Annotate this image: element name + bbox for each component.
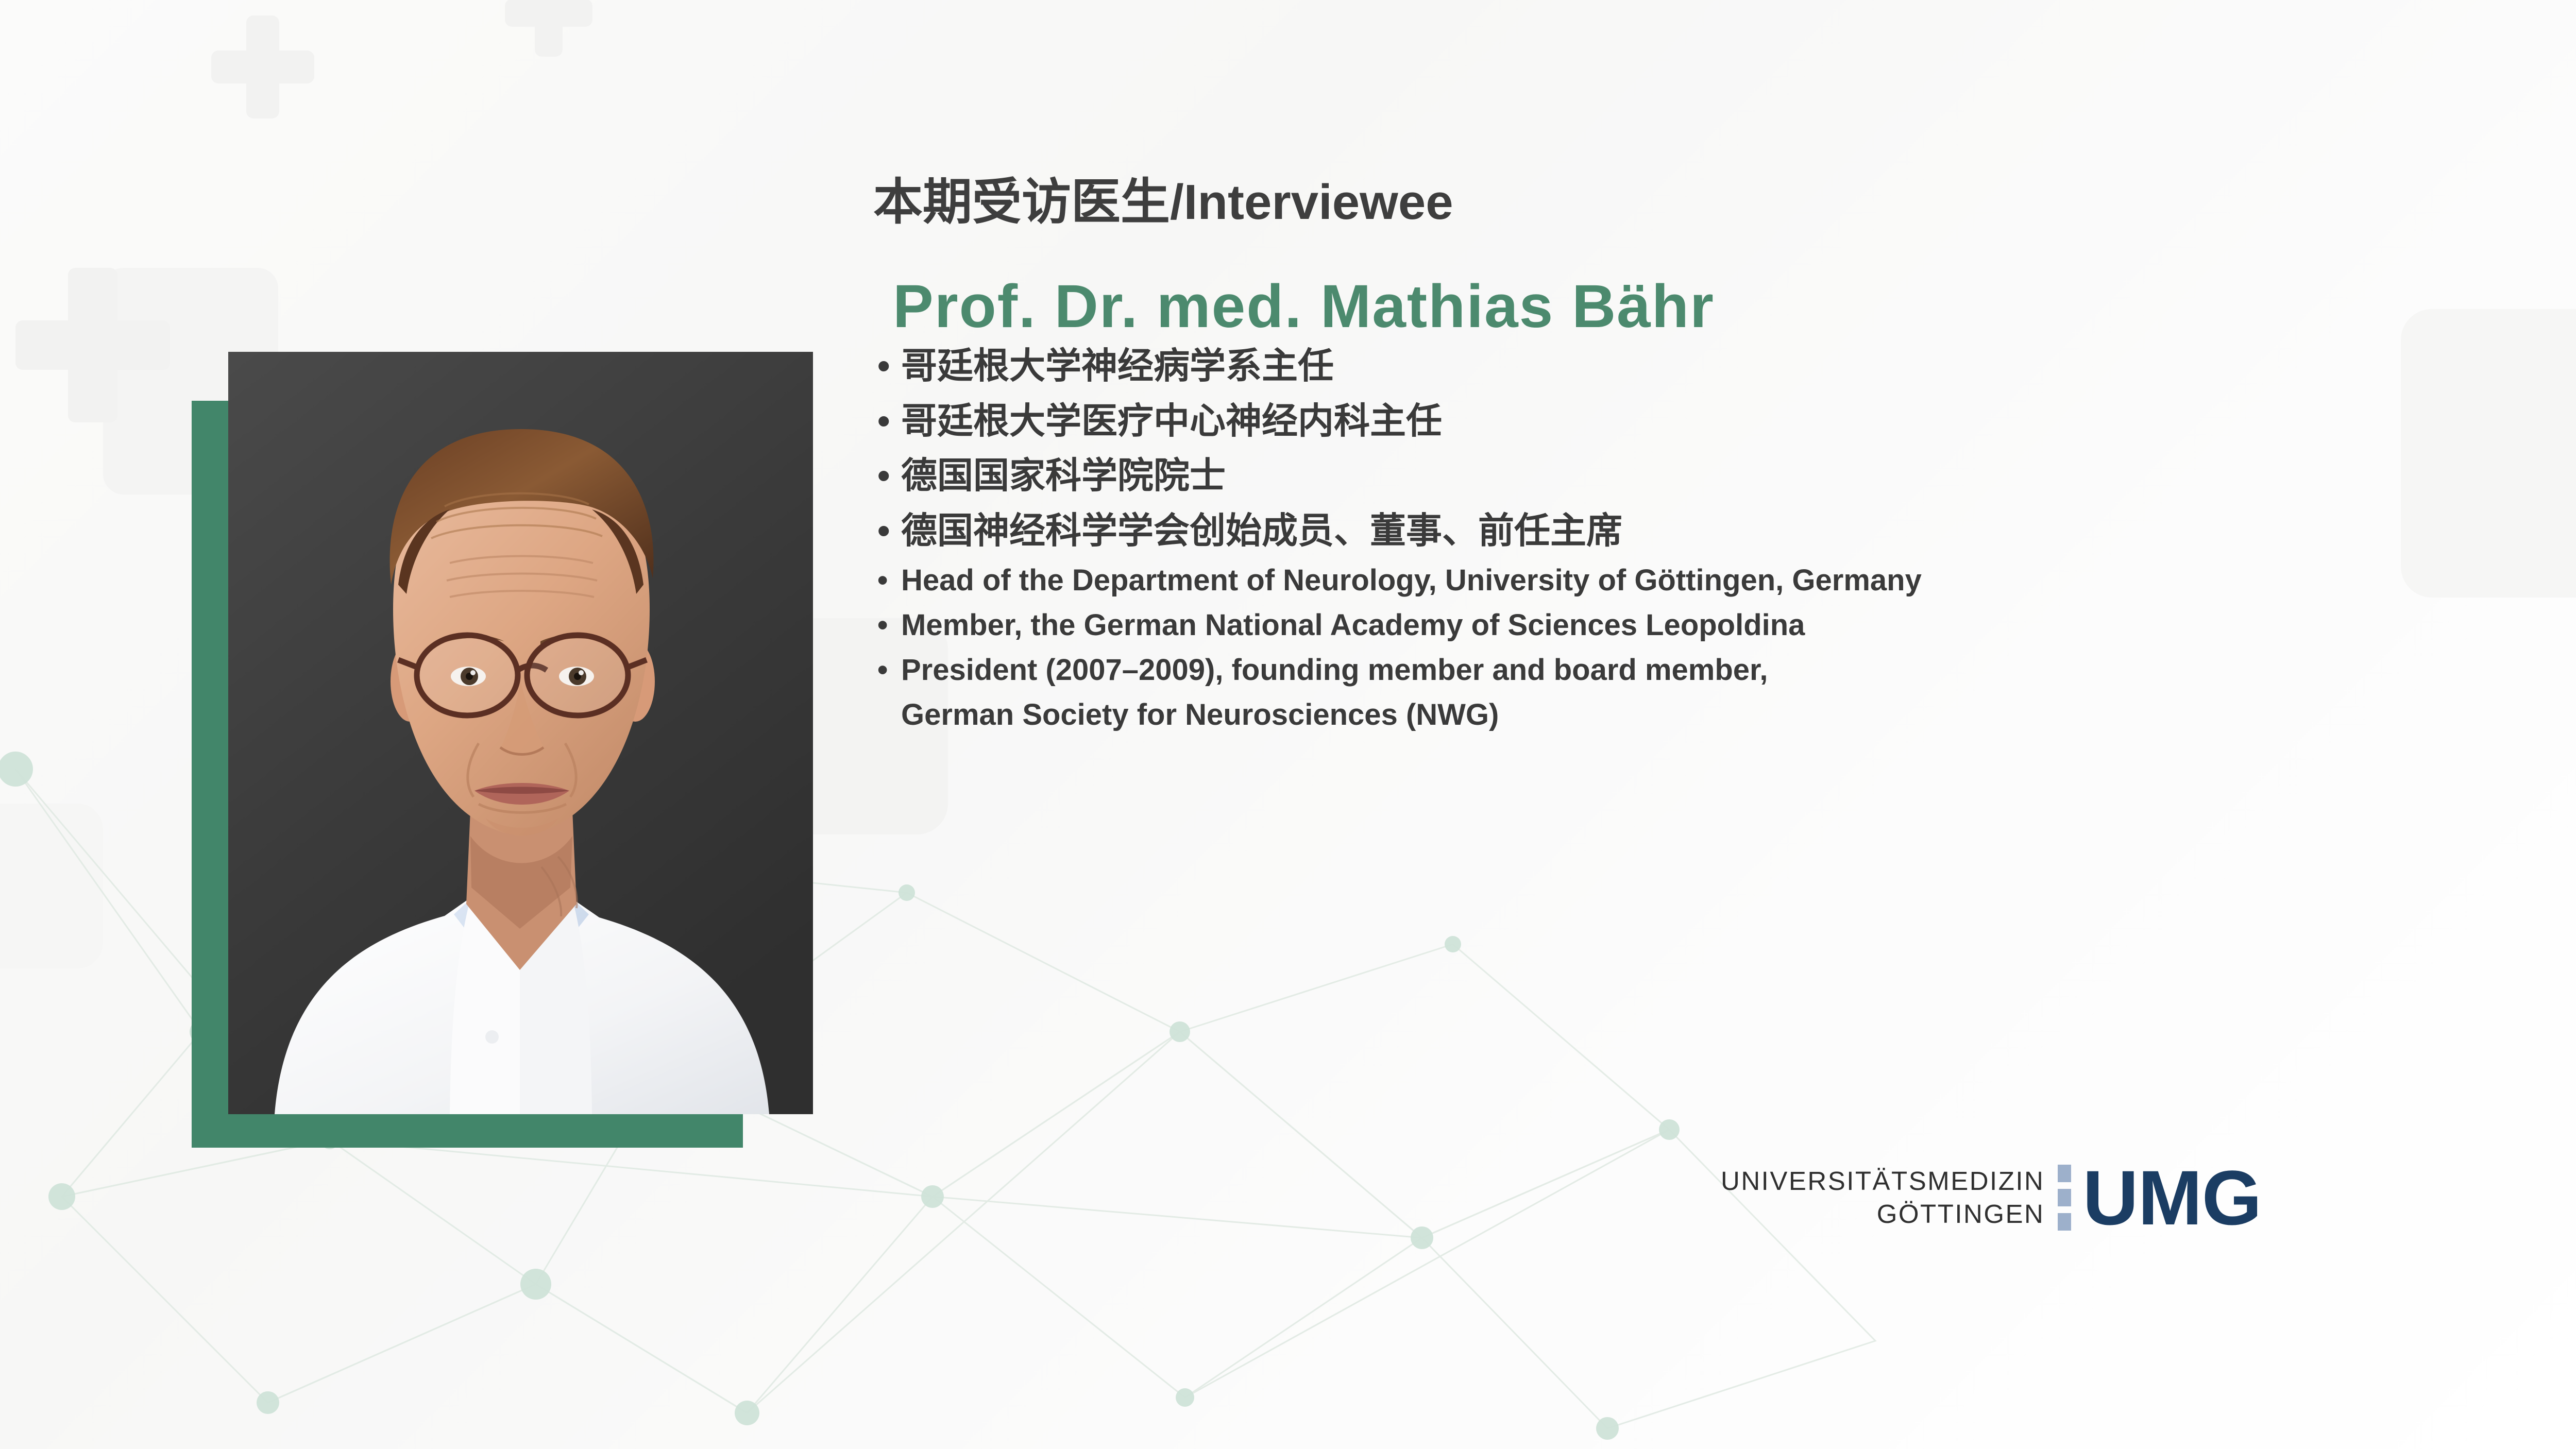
list-item: • Member, the German National Academy of…	[873, 603, 2512, 647]
bullet-icon: •	[877, 448, 890, 503]
bullet-icon: •	[877, 558, 888, 603]
credentials-english-list: • Head of the Department of Neurology, U…	[873, 558, 2512, 737]
kicker-separator: /	[1170, 175, 1184, 230]
umg-logo: UNIVERSITÄTSMEDIZIN GÖTTINGEN UMG	[1721, 1154, 2261, 1241]
bullet-icon: •	[877, 503, 890, 558]
list-item: • 德国国家科学院院士	[873, 448, 2512, 503]
umg-logo-dots-icon	[2058, 1165, 2071, 1231]
credential-text: 哥廷根大学医疗中心神经内科主任	[901, 401, 1442, 441]
credentials-chinese-list: • 哥廷根大学神经病学系主任 • 哥廷根大学医疗中心神经内科主任 • 德国国家科…	[873, 338, 2512, 558]
umg-logo-acronym: UMG	[2082, 1159, 2261, 1236]
list-item: • 哥廷根大学神经病学系主任	[873, 338, 2512, 393]
bullet-icon: •	[877, 603, 888, 647]
credential-text: 德国国家科学院院士	[901, 455, 1226, 496]
bullet-icon: •	[877, 338, 890, 393]
slide-canvas: 本期受访医生/Interviewee Prof. Dr. med. Mathia…	[0, 0, 2576, 1449]
interviewee-name: Prof. Dr. med. Mathias Bähr	[893, 275, 2512, 339]
credential-text: Head of the Department of Neurology, Uni…	[901, 564, 1922, 597]
medical-cross-icon	[15, 268, 170, 422]
credential-text: 哥廷根大学神经病学系主任	[901, 346, 1334, 386]
kicker-chinese: 本期受访医生	[873, 175, 1170, 230]
credential-text: Member, the German National Academy of S…	[901, 608, 1805, 642]
interviewee-content: 本期受访医生/Interviewee Prof. Dr. med. Mathia…	[873, 175, 2512, 737]
list-item: • 哥廷根大学医疗中心神经内科主任	[873, 394, 2512, 448]
decor-soft-rect	[0, 804, 103, 968]
list-item: • Head of the Department of Neurology, U…	[873, 558, 2512, 603]
list-item: • 德国神经科学学会创始成员、董事、前任主席	[873, 503, 2512, 558]
umg-logo-wordmark: UNIVERSITÄTSMEDIZIN GÖTTINGEN	[1721, 1165, 2044, 1231]
umg-logo-line2: GÖTTINGEN	[1877, 1198, 2045, 1231]
kicker-english: Interviewee	[1184, 175, 1453, 230]
section-kicker: 本期受访医生/Interviewee	[873, 175, 2512, 230]
umg-logo-line1: UNIVERSITÄTSMEDIZIN	[1721, 1165, 2044, 1198]
credential-text: 德国神经科学学会创始成员、董事、前任主席	[901, 510, 1622, 551]
list-item: • President (2007–2009), founding member…	[873, 647, 2512, 737]
portrait-photo	[228, 352, 813, 1114]
medical-cross-icon	[505, 0, 592, 57]
credential-text-continued: German Society for Neurosciences (NWG)	[901, 692, 2512, 737]
bullet-icon: •	[877, 394, 890, 448]
bullet-icon: •	[877, 647, 888, 692]
medical-cross-icon	[211, 15, 314, 118]
credential-text: President (2007–2009), founding member a…	[901, 653, 1768, 687]
